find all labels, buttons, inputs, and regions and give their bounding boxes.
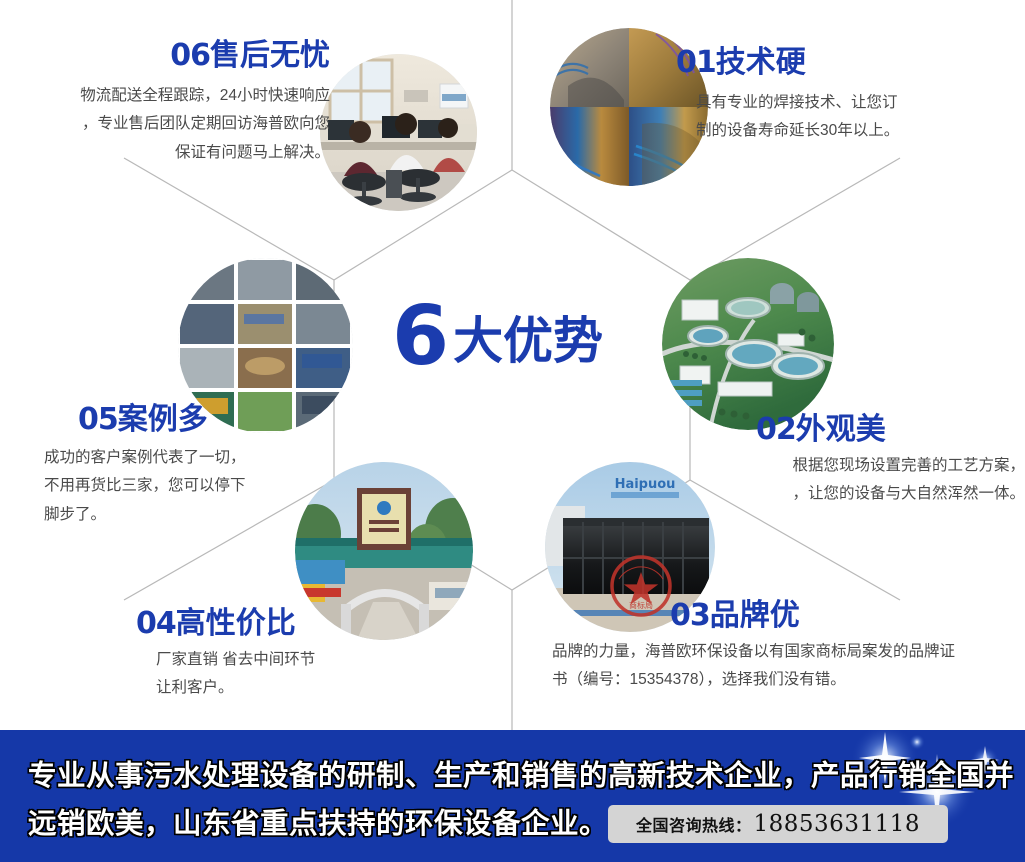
advantage-05-body: 成功的客户案例代表了一切， 不用再货比三家，您可以停下 脚步了。 <box>44 444 340 530</box>
advantage-03-line-2: 书（编号：15354378），选择我们没有错。 <box>552 666 1025 695</box>
advantage-06-body: 物流配送全程跟踪，24小时快速响应 ，专业售后团队定期回访海普欧向您 保证有问题… <box>20 82 330 168</box>
infographic-page: 商标局 Haipuou 6大优势 06售后无忧 物流配送全程跟踪，24小时快速响… <box>0 0 1025 862</box>
advantage-02-line-2: ，让您的设备与大自然浑然一体。 <box>700 480 1025 509</box>
advantage-03-heading: 品牌优 <box>710 599 800 632</box>
advantage-06-line-1: 物流配送全程跟踪，24小时快速响应 <box>20 82 330 111</box>
svg-text:Haipuou: Haipuou <box>615 477 676 492</box>
hotline-number: 18853631118 <box>754 811 920 837</box>
advantage-02: 02外观美 根据您现场设置完善的工艺方案， ，让您的设备与大自然浑然一体。 <box>700 414 1025 509</box>
advantage-04-line-2: 让利客户。 <box>156 674 400 703</box>
advantage-06-number: 06 <box>170 38 210 73</box>
advantage-05-title: 05案例多 <box>78 404 340 436</box>
advantage-04-number: 04 <box>136 606 176 641</box>
advantage-01-line-2: 制的设备寿命延长30年以上。 <box>696 117 1006 146</box>
advantage-03-line-1: 品牌的力量，海普欧环保设备以有国家商标局案发的品牌证 <box>552 638 1025 667</box>
advantage-03-number: 03 <box>670 598 710 633</box>
advantage-06-heading: 售后无忧 <box>210 39 330 72</box>
advantage-06-title: 06售后无忧 <box>20 40 330 72</box>
banner-slogan-line-1: 专业从事污水处理设备的研制、生产和销售的高新技术企业，产品行销全国并 <box>28 760 1014 792</box>
advantage-01-body: 具有专业的焊接技术、让您订 制的设备寿命延长30年以上。 <box>696 89 1006 146</box>
advantage-05-heading: 案例多 <box>118 403 208 436</box>
advantage-04-title: 04高性价比 <box>136 608 400 640</box>
center-label: 6大优势 <box>392 296 642 386</box>
center-word: 大优势 <box>453 313 603 369</box>
advantage-04: 04高性价比 厂家直销 省去中间环节 让利客户。 <box>80 608 400 703</box>
office-team-photo <box>320 54 477 211</box>
advantage-02-number: 02 <box>756 412 796 447</box>
advantage-05-line-1: 成功的客户案例代表了一切， <box>44 444 340 473</box>
advantage-04-body: 厂家直销 省去中间环节 让利客户。 <box>156 646 400 703</box>
advantage-06-line-2: ，专业售后团队定期回访海普欧向您 <box>20 110 330 139</box>
center-number: 6 <box>392 289 447 384</box>
advantage-02-line-1: 根据您现场设置完善的工艺方案， <box>700 452 1025 481</box>
advantage-03: 03品牌优 品牌的力量，海普欧环保设备以有国家商标局案发的品牌证 书（编号：15… <box>530 600 1025 695</box>
hotline-box[interactable]: 全国咨询热线： 18853631118 <box>608 805 948 843</box>
advantage-02-body: 根据您现场设置完善的工艺方案， ，让您的设备与大自然浑然一体。 <box>700 452 1025 509</box>
advantage-01-line-1: 具有专业的焊接技术、让您订 <box>696 89 1006 118</box>
advantage-03-body: 品牌的力量，海普欧环保设备以有国家商标局案发的品牌证 书（编号：15354378… <box>552 638 1025 695</box>
advantage-05-line-2: 不用再货比三家，您可以停下 <box>44 472 340 501</box>
advantage-05: 05案例多 成功的客户案例代表了一切， 不用再货比三家，您可以停下 脚步了。 <box>20 404 340 530</box>
advantage-03-title: 03品牌优 <box>670 600 1025 632</box>
advantage-02-title: 02外观美 <box>756 414 1025 446</box>
advantage-01: 01技术硬 具有专业的焊接技术、让您订 制的设备寿命延长30年以上。 <box>676 47 1006 146</box>
advantage-01-number: 01 <box>676 45 716 80</box>
aerial-plant-photo <box>662 258 834 430</box>
advantage-05-line-3: 脚步了。 <box>44 501 340 530</box>
advantage-06: 06售后无忧 物流配送全程跟踪，24小时快速响应 ，专业售后团队定期回访海普欧向… <box>20 40 330 168</box>
advantage-01-title: 01技术硬 <box>676 47 1006 79</box>
advantage-04-heading: 高性价比 <box>176 607 296 640</box>
hotline-label: 全国咨询热线： <box>636 812 752 836</box>
advantage-05-number: 05 <box>78 402 118 437</box>
advantage-02-heading: 外观美 <box>796 413 886 446</box>
advantage-04-line-1: 厂家直销 省去中间环节 <box>156 646 400 675</box>
advantage-06-line-3: 保证有问题马上解决。 <box>20 139 330 168</box>
advantage-01-heading: 技术硬 <box>716 46 806 79</box>
